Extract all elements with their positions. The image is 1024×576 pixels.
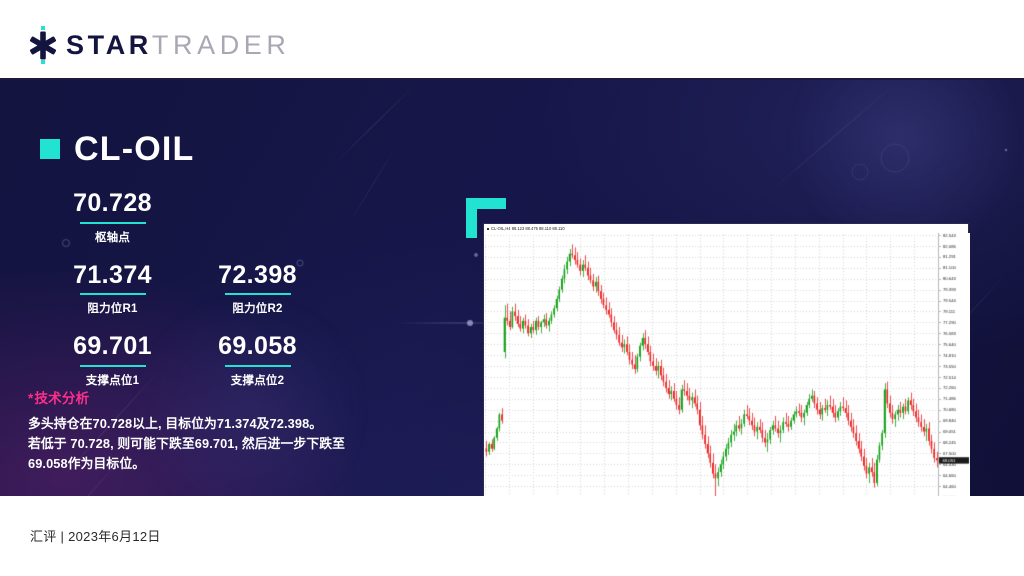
logo-accent-square-bottom [41, 60, 45, 64]
header-bar: STARTRADER [0, 0, 1024, 80]
asterisk-icon: * [28, 391, 33, 406]
slide-root: STARTRADER CL-OIL 70.728 枢轴点 71.374 [0, 0, 1024, 576]
analysis-title-text: 技术分析 [34, 391, 89, 406]
level-resistance-2: 72.398 阻力位R2 [185, 262, 330, 317]
page-title: CL-OIL [74, 132, 195, 166]
level-underline [80, 293, 146, 295]
level-underline [225, 365, 291, 367]
price-chart-panel[interactable]: CL-OIL,H4 88.123 88.475 88.110 88.110 [483, 223, 969, 496]
chart-marker-icon [487, 228, 489, 230]
pivot-row: 70.728 枢轴点 [40, 190, 330, 262]
level-label: 阻力位R2 [185, 300, 330, 316]
chart-header-text: CL-OIL,H4 88.123 88.475 88.110 88.110 [491, 226, 565, 231]
analysis-body: 多头持仓在70.728以上, 目标位为71.374及72.398。 若低于 70… [28, 414, 400, 473]
level-value: 69.058 [185, 333, 330, 361]
level-underline [80, 222, 146, 224]
level-value: 72.398 [185, 262, 330, 290]
level-value: 70.728 [40, 190, 185, 218]
level-pivot: 70.728 枢轴点 [40, 190, 185, 245]
analysis-line-3: 69.058作为目标位。 [28, 454, 400, 474]
candlestick-chart[interactable] [484, 233, 970, 496]
brand-name-light: TRADER [152, 30, 291, 60]
level-support-1: 69.701 支撑点位1 [40, 333, 185, 388]
level-label: 阻力位R1 [40, 300, 185, 316]
chart-header-label: CL-OIL,H4 88.123 88.475 88.110 88.110 [484, 224, 968, 233]
footer-bar: 汇评 | 2023年6月12日 [0, 496, 1024, 576]
brand-wordmark: STARTRADER [66, 32, 291, 59]
brand-logo[interactable]: STARTRADER [26, 28, 291, 62]
symbol-accent-chip [40, 139, 60, 159]
level-resistance-1: 71.374 阻力位R1 [40, 262, 185, 317]
technical-analysis: *技术分析 多头持仓在70.728以上, 目标位为71.374及72.398。 … [28, 387, 400, 473]
analysis-line-2: 若低于 70.728, 则可能下跌至69.701, 然后进一步下跌至 [28, 434, 400, 454]
level-label: 支撑点位1 [40, 372, 185, 388]
analysis-line-1: 多头持仓在70.728以上, 目标位为71.374及72.398。 [28, 414, 400, 434]
level-label: 枢轴点 [40, 229, 185, 245]
level-value: 71.374 [40, 262, 185, 290]
analysis-title: *技术分析 [28, 387, 400, 407]
asterisk-star-icon [26, 28, 60, 62]
level-value: 69.701 [40, 333, 185, 361]
level-support-2: 69.058 支撑点位2 [185, 333, 330, 388]
content-stage: CL-OIL 70.728 枢轴点 71.374 阻力位R1 72.398 [0, 80, 1024, 496]
brand-name-bold: STAR [66, 30, 152, 60]
pivot-levels: 70.728 枢轴点 71.374 阻力位R1 72.398 阻力位R2 [40, 190, 330, 405]
level-label: 支撑点位2 [185, 372, 330, 388]
resistance-row: 71.374 阻力位R1 72.398 阻力位R2 [40, 262, 330, 334]
logo-accent-square-top [41, 26, 45, 30]
symbol-heading: CL-OIL [40, 132, 195, 166]
level-underline [80, 365, 146, 367]
footer-caption: 汇评 | 2023年6月12日 [30, 526, 161, 545]
level-underline [225, 293, 291, 295]
